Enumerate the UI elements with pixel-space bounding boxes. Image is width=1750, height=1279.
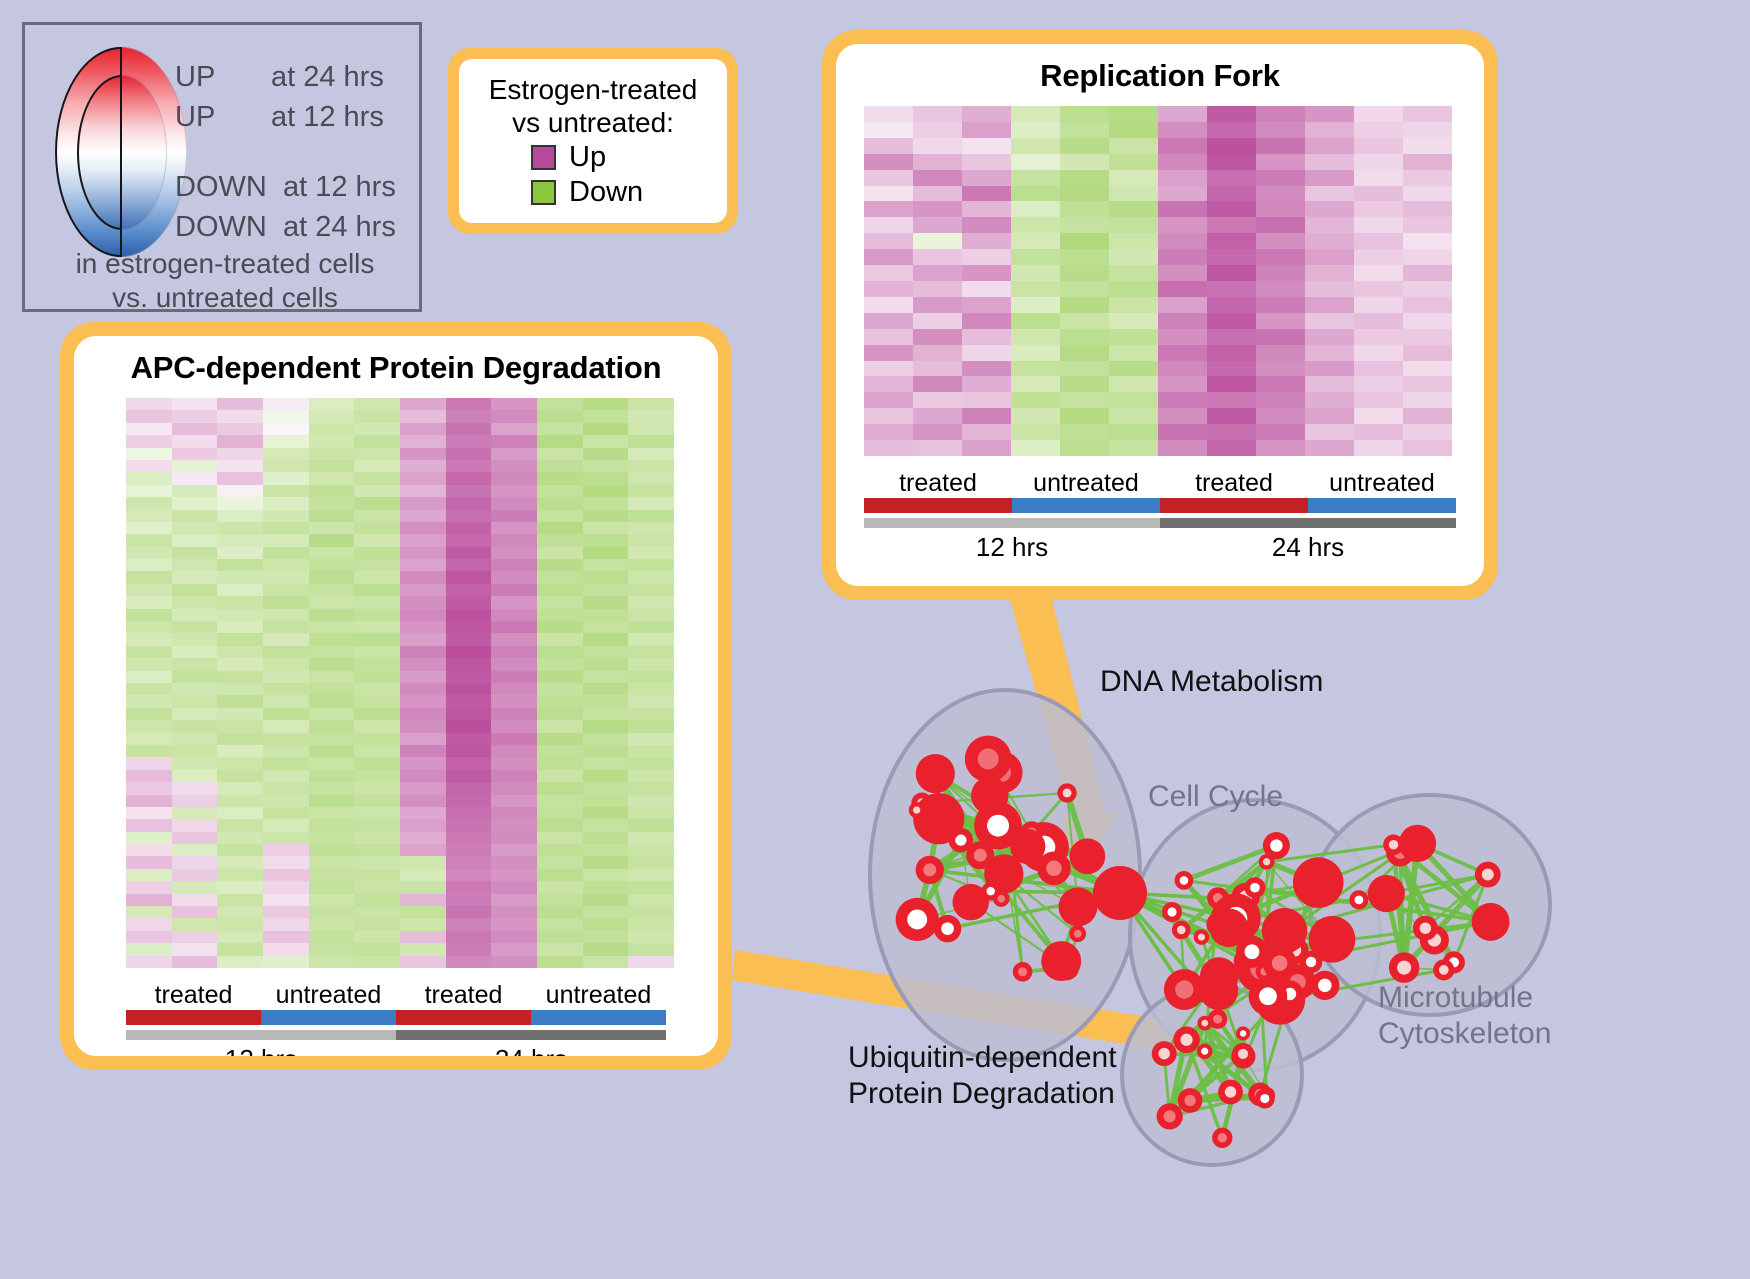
heatmap-cell xyxy=(1109,376,1158,392)
heatmap-cell xyxy=(583,410,629,422)
heatmap-cell xyxy=(126,757,172,769)
network-edge xyxy=(1404,843,1417,967)
network-edge xyxy=(998,826,1032,833)
heatmap-cell xyxy=(583,881,629,893)
heatmap-cell xyxy=(309,658,355,670)
heatmap-cell xyxy=(491,497,537,509)
heatmap-cell xyxy=(217,398,263,410)
network-edge xyxy=(1120,893,1201,937)
heatmap-cell xyxy=(126,534,172,546)
heatmap-cell xyxy=(354,844,400,856)
heatmap-cell xyxy=(962,122,1011,138)
heatmap-cell xyxy=(309,869,355,881)
heatmap-cell xyxy=(1403,281,1452,297)
network-edge xyxy=(1267,862,1268,996)
heatmap-cell xyxy=(446,435,492,447)
heatmap-cell xyxy=(628,844,674,856)
heatmap-cell xyxy=(491,807,537,819)
heatmap-cell xyxy=(354,695,400,707)
network-node xyxy=(993,890,1009,906)
network-edge xyxy=(1236,862,1267,918)
heatmap-cell xyxy=(309,559,355,571)
heatmap-cell xyxy=(1256,313,1305,329)
heatmap-cell xyxy=(172,584,218,596)
network-edge xyxy=(1236,918,1280,963)
network-edge xyxy=(1252,952,1325,986)
network-edge xyxy=(1032,833,1078,907)
network-node xyxy=(1069,925,1086,942)
heatmap-cell xyxy=(400,782,446,794)
heatmap-cell xyxy=(628,485,674,497)
heatmap-cell xyxy=(1256,122,1305,138)
heatmap-cell xyxy=(309,683,355,695)
heatmap-cell xyxy=(400,423,446,435)
heatmap-cell xyxy=(491,770,537,782)
heatmap-cell xyxy=(864,424,913,440)
legend-time-down-12: at 12 hrs xyxy=(283,171,396,204)
heatmap-cell xyxy=(864,408,913,424)
heatmap-cell xyxy=(628,547,674,559)
network-edge xyxy=(1181,930,1184,990)
heatmap-cell xyxy=(491,856,537,868)
heatmap-cell xyxy=(491,559,537,571)
heatmap-cell xyxy=(309,695,355,707)
heatmap-cell xyxy=(537,547,583,559)
heatmap-cell xyxy=(217,856,263,868)
heatmap-cell xyxy=(1060,154,1109,170)
network-node xyxy=(1244,877,1265,898)
heatmap-cell xyxy=(126,695,172,707)
network-node xyxy=(949,828,974,853)
heatmap-cell xyxy=(263,819,309,831)
network-node-core xyxy=(1198,934,1205,941)
heatmap-cell xyxy=(309,646,355,658)
network-edge xyxy=(1184,862,1266,990)
heatmap-cell xyxy=(354,856,400,868)
network-edge xyxy=(935,774,1027,847)
heatmap-cell xyxy=(1011,345,1060,361)
down-color-swatch xyxy=(531,180,556,205)
network-node-core xyxy=(1218,1133,1227,1142)
heatmap-cell xyxy=(962,329,1011,345)
heatmap-cell xyxy=(628,894,674,906)
heatmap-cell xyxy=(537,671,583,683)
network-edge xyxy=(1222,1057,1243,1138)
heatmap-cell xyxy=(1403,297,1452,313)
network-node xyxy=(1300,951,1323,974)
heatmap-cell xyxy=(537,807,583,819)
heatmap-cell xyxy=(309,423,355,435)
heatmap-cell xyxy=(400,658,446,670)
heatmap-cell xyxy=(400,596,446,608)
heatmap-cell xyxy=(1060,186,1109,202)
heatmap-cell xyxy=(913,281,962,297)
heatmap-cell xyxy=(1256,281,1305,297)
network-node-core xyxy=(1428,933,1441,946)
network-edge xyxy=(935,774,1078,907)
heatmap-cell xyxy=(628,956,674,968)
network-node xyxy=(916,856,944,884)
network-node-core xyxy=(1046,861,1061,876)
heatmap-cell xyxy=(263,423,309,435)
heatmap-cell xyxy=(446,906,492,918)
heatmap-cell xyxy=(446,782,492,794)
heatmap-cell xyxy=(1109,138,1158,154)
network-edge xyxy=(1454,875,1488,963)
down-label: Down xyxy=(569,176,643,209)
heatmap-cell xyxy=(263,844,309,856)
heatmap-cell xyxy=(491,931,537,943)
heatmap-cell xyxy=(1060,138,1109,154)
network-node-core xyxy=(1284,988,1296,1000)
heatmap-cell xyxy=(583,708,629,720)
network-edge xyxy=(1246,897,1295,950)
heatmap-cell xyxy=(1011,265,1060,281)
legend-caption-line2: vs. untreated cells xyxy=(25,281,425,315)
group-label: untreated xyxy=(261,981,396,1010)
heatmap-cell xyxy=(446,646,492,658)
heatmap-cell xyxy=(962,170,1011,186)
heatmap-cell xyxy=(126,807,172,819)
heatmap-cell xyxy=(126,720,172,732)
network-node-core xyxy=(1260,1094,1269,1103)
heatmap-grid xyxy=(864,106,1452,456)
heatmap-cell xyxy=(1207,440,1256,456)
network-edge xyxy=(1181,930,1311,962)
heatmap-cell xyxy=(491,435,537,447)
heatmap-cell xyxy=(263,658,309,670)
heatmap-cell xyxy=(864,170,913,186)
heatmap-cell xyxy=(628,683,674,695)
heatmap-cell xyxy=(864,297,913,313)
heatmap-cell xyxy=(628,534,674,546)
heatmap-cell xyxy=(1060,233,1109,249)
network-node-core xyxy=(1355,895,1364,904)
heatmap-cell xyxy=(354,559,400,571)
heatmap-cell xyxy=(913,392,962,408)
network-edge xyxy=(1067,793,1087,856)
heatmap-cell xyxy=(354,534,400,546)
network-edge xyxy=(917,810,1088,856)
network-edge xyxy=(1023,968,1067,972)
heatmap-cell xyxy=(354,398,400,410)
heatmap-cell xyxy=(354,646,400,658)
network-node-core xyxy=(1063,789,1072,798)
network-node xyxy=(909,802,925,818)
heatmap-cell xyxy=(354,547,400,559)
heatmap-cell xyxy=(172,510,218,522)
heatmap-cell xyxy=(126,584,172,596)
network-node xyxy=(1276,981,1303,1008)
heatmap-cell xyxy=(309,881,355,893)
network-edge xyxy=(1218,898,1298,982)
heatmap-cell xyxy=(400,460,446,472)
heatmap-cell xyxy=(263,943,309,955)
heatmap-cell xyxy=(400,497,446,509)
network-edge xyxy=(1386,894,1490,922)
heatmap-cell xyxy=(446,720,492,732)
network-edge xyxy=(1205,924,1218,991)
heatmap-cell xyxy=(1011,201,1060,217)
connector-arrow-replication-fork xyxy=(1010,600,1118,880)
heatmap-cell xyxy=(309,671,355,683)
heatmap-cell xyxy=(628,410,674,422)
heatmap-cell xyxy=(354,708,400,720)
heatmap-cell xyxy=(864,281,913,297)
heatmap-cell xyxy=(583,448,629,460)
network-edge xyxy=(1184,880,1280,999)
heatmap-cell xyxy=(583,460,629,472)
network-edge xyxy=(917,772,1001,919)
heatmap-cell xyxy=(446,510,492,522)
heatmap-cell xyxy=(491,534,537,546)
network-edge xyxy=(1205,898,1218,1051)
heatmap-cell xyxy=(263,782,309,794)
heatmap-cell xyxy=(1403,376,1452,392)
heatmap-cell xyxy=(537,497,583,509)
heatmap-cell xyxy=(583,571,629,583)
network-node-core xyxy=(1032,836,1055,859)
heatmap-cell xyxy=(1256,376,1305,392)
heatmap-cell xyxy=(962,265,1011,281)
network-edge xyxy=(930,819,939,870)
network-node-core xyxy=(941,922,954,935)
network-node xyxy=(1206,912,1229,935)
heatmap-cell xyxy=(491,485,537,497)
group-label: treated xyxy=(864,469,1012,498)
heatmap-cell xyxy=(126,782,172,794)
heatmap-cell xyxy=(1109,361,1158,377)
network-edge xyxy=(1260,994,1290,1094)
heatmap-cell xyxy=(583,733,629,745)
heatmap-cell xyxy=(400,559,446,571)
network-edge xyxy=(1219,976,1325,985)
network-edge xyxy=(998,826,1120,893)
network-node xyxy=(1309,916,1356,963)
heatmap-cell xyxy=(1158,281,1207,297)
heatmap-cell xyxy=(354,869,400,881)
heatmap-cell xyxy=(864,392,913,408)
heatmap-cell xyxy=(537,757,583,769)
heatmap-cell xyxy=(628,733,674,745)
network-node xyxy=(1263,832,1290,859)
network-edge xyxy=(1181,930,1218,991)
heatmap-cell xyxy=(491,943,537,955)
network-node xyxy=(1172,921,1191,940)
heatmap-cell xyxy=(1207,106,1256,122)
network-node xyxy=(1194,929,1209,944)
heatmap-cell xyxy=(126,894,172,906)
heatmap-cell xyxy=(864,440,913,456)
heatmap-cell xyxy=(1158,361,1207,377)
heatmap-cell xyxy=(217,534,263,546)
heatmap-cell xyxy=(172,819,218,831)
estrogen-legend-title-1: Estrogen-treated xyxy=(459,73,727,106)
heatmap-cell xyxy=(217,510,263,522)
heatmap-cell xyxy=(400,621,446,633)
network-edge xyxy=(1267,862,1319,883)
heatmap-cell xyxy=(491,423,537,435)
network-edge xyxy=(935,774,980,856)
heatmap-cell xyxy=(1305,170,1354,186)
heatmap-cell xyxy=(1011,361,1060,377)
heatmap-cell xyxy=(172,745,218,757)
heatmap-cell xyxy=(126,435,172,447)
network-edge xyxy=(1184,846,1276,881)
heatmap-cell xyxy=(628,881,674,893)
heatmap-cell xyxy=(1207,186,1256,202)
network-edge xyxy=(1394,845,1454,963)
heatmap-cell xyxy=(354,782,400,794)
heatmap-cell xyxy=(446,410,492,422)
network-edge xyxy=(1252,922,1491,952)
apc-degradation-title: APC-dependent Protein Degradation xyxy=(74,336,718,386)
network-edge xyxy=(930,870,948,929)
network-node xyxy=(1058,888,1097,927)
network-edge xyxy=(922,803,961,840)
network-edge xyxy=(1187,972,1265,1040)
heatmap-cell xyxy=(309,745,355,757)
heatmap-cell xyxy=(628,757,674,769)
heatmap-cell xyxy=(217,869,263,881)
heatmap-cell xyxy=(400,906,446,918)
heatmap-cell xyxy=(1354,408,1403,424)
network-edge xyxy=(1170,1094,1260,1116)
network-edge xyxy=(1222,1033,1243,1137)
heatmap-cell xyxy=(1060,376,1109,392)
network-edge xyxy=(1067,793,1078,907)
network-node xyxy=(1057,783,1076,802)
heatmap-cell xyxy=(1354,376,1403,392)
heatmap-cell xyxy=(962,154,1011,170)
heatmap-cell xyxy=(1207,345,1256,361)
heatmap-cell xyxy=(446,832,492,844)
heatmap-cell xyxy=(172,683,218,695)
heatmap-cell xyxy=(1305,122,1354,138)
heatmap-cell xyxy=(309,584,355,596)
network-node xyxy=(1386,839,1414,867)
heatmap-cell xyxy=(126,869,172,881)
heatmap-cell xyxy=(1109,408,1158,424)
network-edge xyxy=(1295,950,1311,962)
network-edge xyxy=(961,840,1004,874)
heatmap-cell xyxy=(309,571,355,583)
network-edge xyxy=(1190,1033,1243,1100)
heatmap-cell xyxy=(913,170,962,186)
heatmap-cell xyxy=(309,410,355,422)
network-edge xyxy=(1218,883,1318,925)
network-node xyxy=(1349,890,1368,909)
heatmap-cell xyxy=(1207,138,1256,154)
network-node xyxy=(913,793,964,844)
heatmap-cell xyxy=(491,720,537,732)
heatmap-cell xyxy=(400,931,446,943)
network-edge xyxy=(1164,1054,1243,1057)
heatmap-cell xyxy=(126,410,172,422)
network-edge xyxy=(1190,1092,1230,1100)
group-label: untreated xyxy=(531,981,666,1010)
network-edge xyxy=(988,759,1004,874)
heatmap-cell xyxy=(1256,249,1305,265)
heatmap-cell xyxy=(1354,361,1403,377)
network-node-core xyxy=(1177,926,1186,935)
heatmap-cell xyxy=(583,894,629,906)
heatmap-cell xyxy=(1011,249,1060,265)
legend-dir-up-12: UP xyxy=(175,101,215,134)
network-edge xyxy=(1219,939,1332,976)
heatmap-cell xyxy=(913,122,962,138)
heatmap-cell xyxy=(217,448,263,460)
heatmap-cell xyxy=(217,472,263,484)
heatmap-cell xyxy=(309,956,355,968)
heatmap-cell xyxy=(446,856,492,868)
heatmap-cell xyxy=(491,782,537,794)
heatmap-cell xyxy=(172,906,218,918)
heatmap-cell xyxy=(354,832,400,844)
heatmap-cell xyxy=(537,584,583,596)
heatmap-cell xyxy=(537,683,583,695)
network-edge xyxy=(1187,1040,1223,1138)
network-node-core xyxy=(986,887,994,895)
heatmap-cell xyxy=(126,596,172,608)
network-edge xyxy=(1290,939,1332,994)
network-edge xyxy=(1187,1040,1260,1095)
heatmap-cell xyxy=(400,745,446,757)
heatmap-cell xyxy=(217,918,263,930)
heatmap-cell xyxy=(217,671,263,683)
heatmap-cell xyxy=(400,733,446,745)
heatmap-cell xyxy=(491,869,537,881)
heatmap-cell xyxy=(1305,154,1354,170)
network-node-core xyxy=(997,895,1005,903)
heatmap-cell xyxy=(446,559,492,571)
heatmap-cell xyxy=(172,956,218,968)
group-label: treated xyxy=(126,981,261,1010)
network-edge xyxy=(1190,1099,1265,1101)
heatmap-cell xyxy=(628,708,674,720)
network-node-core xyxy=(1306,957,1316,967)
heatmap-cell xyxy=(537,733,583,745)
heatmap-cell xyxy=(446,534,492,546)
network-edge xyxy=(1280,963,1298,982)
heatmap-cell xyxy=(962,424,1011,440)
heatmap-cell xyxy=(263,497,309,509)
heatmap-cell xyxy=(263,547,309,559)
network-edge xyxy=(1044,847,1120,893)
heatmap-cell xyxy=(309,510,355,522)
heatmap-cell xyxy=(263,621,309,633)
heatmap-cell xyxy=(217,460,263,472)
heatmap-cell xyxy=(446,497,492,509)
heatmap-cell xyxy=(172,708,218,720)
heatmap-cell xyxy=(172,448,218,460)
heatmap-cell xyxy=(217,795,263,807)
heatmap-cell xyxy=(354,571,400,583)
heatmap-cell xyxy=(1011,281,1060,297)
heatmap-cell xyxy=(263,609,309,621)
heatmap-cell xyxy=(962,186,1011,202)
network-node xyxy=(982,882,1000,900)
network-edge xyxy=(1054,856,1087,868)
group-color-bar xyxy=(864,498,1012,513)
heatmap-cell xyxy=(1158,345,1207,361)
network-edge xyxy=(1267,862,1332,940)
network-node xyxy=(1199,971,1238,1010)
heatmap-cell xyxy=(446,633,492,645)
network-edge xyxy=(1164,1054,1169,1117)
heatmap-cell xyxy=(583,596,629,608)
heatmap-cell xyxy=(1158,329,1207,345)
